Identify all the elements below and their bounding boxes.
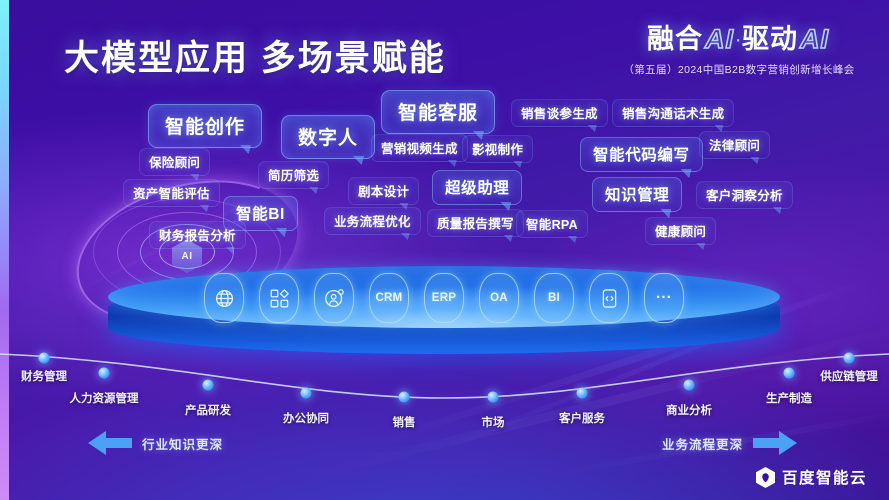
timeline-node[interactable] <box>488 392 499 403</box>
timeline-node-label: 办公协同 <box>283 410 329 426</box>
timeline-node[interactable] <box>784 368 795 379</box>
capability-bubble-label: 销售谈参生成 <box>521 103 598 122</box>
bubble-tail-icon <box>353 156 364 165</box>
baidu-hexagon-icon <box>756 467 775 488</box>
capability-bubble[interactable]: 保险顾问 <box>139 148 210 176</box>
brand-ai-glyph-1: AI <box>703 24 736 54</box>
arrow-right-business-process: 业务流程更深 <box>662 430 797 456</box>
capability-bubble-label: 智能BI <box>236 202 285 224</box>
capability-bubble[interactable]: 客户洞察分析 <box>696 181 793 209</box>
capability-bubble-label: 营销视频生成 <box>381 138 458 157</box>
event-subtitle: （第五届）2024中国B2B数字营销创新增长峰会 <box>609 62 869 77</box>
capability-bubble[interactable]: 影视制作 <box>462 135 533 163</box>
capability-bubble[interactable]: 数字人 <box>281 115 375 159</box>
bubble-tail-icon <box>773 207 782 214</box>
capability-bubble[interactable]: 知识管理 <box>592 177 682 212</box>
capability-bubble[interactable]: 资产智能评估 <box>123 179 220 207</box>
capability-bubble[interactable]: 健康顾问 <box>645 217 716 245</box>
timeline-node[interactable] <box>577 388 588 399</box>
brand-suffix: 驱动 <box>742 24 798 54</box>
oa-icon[interactable]: OA <box>479 273 519 323</box>
more-icon-label: ··· <box>656 294 672 302</box>
system-icon-row: CRMERPOABI··· <box>108 272 780 324</box>
crm-icon-label: CRM <box>375 292 402 304</box>
apps-icon[interactable] <box>259 273 299 323</box>
timeline-node-label: 销售 <box>393 414 416 430</box>
capability-bubble-label: 智能创作 <box>165 112 245 139</box>
bubble-tail-icon <box>240 145 251 154</box>
code-app-icon[interactable] <box>589 273 629 323</box>
capability-bubble[interactable]: 智能代码编写 <box>580 137 703 172</box>
capability-bubble-label: 财务报告分析 <box>159 225 236 244</box>
capability-bubble[interactable]: 法律顾问 <box>699 131 770 159</box>
timeline-node[interactable] <box>39 353 50 364</box>
timeline-node-label: 财务管理 <box>21 368 67 384</box>
event-brand-lockup: 融合AI·驱动AI （第五届）2024中国B2B数字营销创新增长峰会 <box>609 26 869 77</box>
capability-bubble-label: 销售沟通话术生成 <box>622 103 724 122</box>
timeline-node[interactable] <box>684 380 695 391</box>
capability-bubble-label: 业务流程优化 <box>334 211 411 230</box>
timeline-node[interactable] <box>399 392 410 403</box>
code-app-icon-glyph <box>599 288 620 309</box>
timeline-node-label: 产品研发 <box>185 402 231 418</box>
crm-icon[interactable]: CRM <box>369 273 409 323</box>
capability-bubble[interactable]: 销售谈参生成 <box>511 99 608 127</box>
capability-bubble[interactable]: 智能客服 <box>381 90 495 134</box>
timeline-node[interactable] <box>203 380 214 391</box>
timeline-node-label: 客户服务 <box>559 410 605 426</box>
arrow-left-industry-knowledge: 行业知识更深 <box>88 430 223 456</box>
timeline-node-label: 商业分析 <box>666 402 712 418</box>
oa-icon-label: OA <box>490 292 508 304</box>
baidu-ai-cloud-logo: 百度智能云 <box>756 466 867 488</box>
globe-icon[interactable] <box>204 273 244 323</box>
capability-bubble-label: 智能客服 <box>398 98 478 125</box>
brand-ai-glyph-2: AI <box>798 24 831 54</box>
arrow-left-label: 行业知识更深 <box>142 434 223 453</box>
department-timeline: 财务管理人力资源管理产品研发办公协同销售市场客户服务商业分析生产制造供应链管理 <box>0 352 889 430</box>
apps-icon-glyph <box>269 288 290 309</box>
logo-text: 百度智能云 <box>782 466 867 488</box>
capability-bubble-label: 智能代码编写 <box>593 143 690 165</box>
platform-disc: CRMERPOABI··· <box>108 266 780 358</box>
capability-bubble[interactable]: 销售沟通话术生成 <box>612 99 734 127</box>
bubble-tail-icon <box>309 187 318 194</box>
bubble-tail-icon <box>750 157 759 164</box>
capability-bubble-label: 超级助理 <box>445 176 509 198</box>
bi-icon-label: BI <box>548 292 560 304</box>
capability-bubble[interactable]: 剧本设计 <box>348 177 419 205</box>
capability-bubble[interactable]: 质量报告撰写 <box>427 209 524 237</box>
arrow-left-icon <box>88 430 132 456</box>
bubble-tail-icon <box>504 235 513 242</box>
arrow-right-label: 业务流程更深 <box>662 434 743 453</box>
capability-bubble-label: 数字人 <box>298 123 358 150</box>
bubble-tail-icon <box>696 243 705 250</box>
bubble-tail-icon <box>568 236 577 243</box>
page-title: 大模型应用 多场景赋能 <box>64 30 446 81</box>
capability-bubble[interactable]: 超级助理 <box>432 170 522 205</box>
timeline-node-label: 供应链管理 <box>820 368 878 384</box>
capability-bubble[interactable]: 业务流程优化 <box>324 207 421 235</box>
target-icon-glyph <box>324 288 345 309</box>
capability-bubble-label: 法律顾问 <box>709 135 760 154</box>
bubble-tail-icon <box>513 161 522 168</box>
timeline-node[interactable] <box>844 353 855 364</box>
arrow-right-icon <box>753 430 797 456</box>
brand-title: 融合AI·驱动AI <box>609 26 869 53</box>
brand-prefix: 融合 <box>647 24 703 54</box>
bi-icon[interactable]: BI <box>534 273 574 323</box>
timeline-node-label: 人力资源管理 <box>70 390 139 406</box>
ai-core-badge-label: AI <box>182 251 193 262</box>
capability-bubble[interactable]: 智能创作 <box>148 104 262 148</box>
capability-bubble[interactable]: 简历筛选 <box>258 161 329 189</box>
globe-icon-glyph <box>214 288 235 309</box>
erp-icon[interactable]: ERP <box>424 273 464 323</box>
capability-bubble-label: 健康顾问 <box>655 221 706 240</box>
timeline-node-label: 市场 <box>482 414 505 430</box>
bubble-tail-icon <box>448 160 457 167</box>
slide-canvas: 大模型应用 多场景赋能 融合AI·驱动AI （第五届）2024中国B2B数字营销… <box>0 0 889 500</box>
bubble-tail-icon <box>401 233 410 240</box>
capability-bubble-label: 简历筛选 <box>268 165 319 184</box>
capability-bubble[interactable]: 营销视频生成 <box>371 134 468 162</box>
capability-bubble-label: 资产智能评估 <box>133 183 210 202</box>
more-icon[interactable]: ··· <box>644 273 684 323</box>
capability-bubble-label: 客户洞察分析 <box>706 185 783 204</box>
capability-bubble-label: 保险顾问 <box>149 152 200 171</box>
capability-bubble[interactable]: 财务报告分析 <box>149 221 246 249</box>
erp-icon-label: ERP <box>432 292 457 304</box>
capability-bubble-label: 知识管理 <box>605 183 669 205</box>
capability-bubble-label: 影视制作 <box>472 139 523 158</box>
target-icon[interactable] <box>314 273 354 323</box>
bubble-tail-icon <box>681 169 692 178</box>
capability-bubble-label: 质量报告撰写 <box>437 213 514 232</box>
timeline-node[interactable] <box>301 388 312 399</box>
capability-bubble-label: 剧本设计 <box>358 181 409 200</box>
bubble-tail-icon <box>588 125 597 132</box>
capability-bubble[interactable]: 智能RPA <box>516 210 588 238</box>
timeline-node[interactable] <box>99 368 110 379</box>
timeline-node-label: 生产制造 <box>766 390 812 406</box>
capability-bubble-label: 智能RPA <box>526 214 578 233</box>
